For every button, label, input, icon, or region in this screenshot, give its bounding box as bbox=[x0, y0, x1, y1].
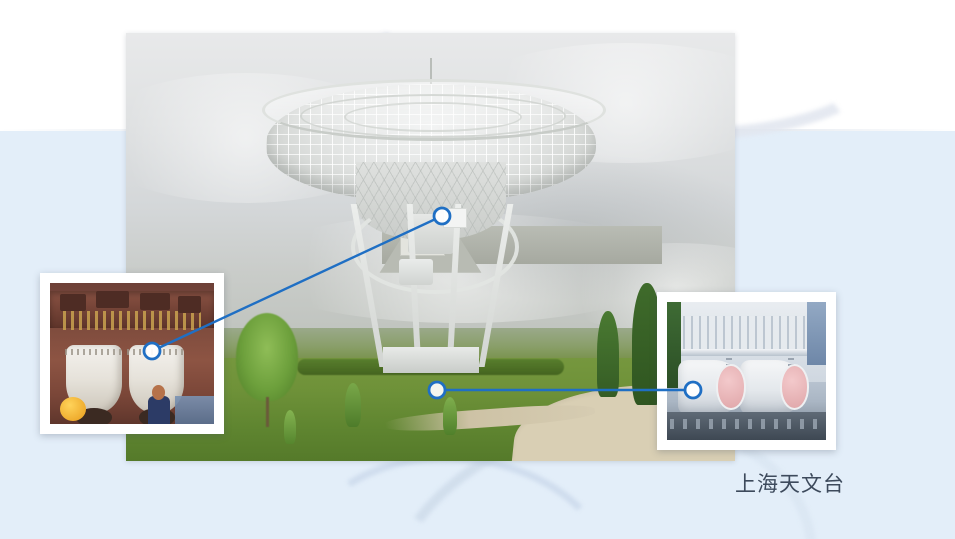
anchor-bolt-row bbox=[670, 419, 823, 429]
dish-inner-ring-secondary bbox=[344, 102, 522, 132]
background-sky-patch bbox=[807, 302, 826, 365]
rusty-bearing-assembly-photo bbox=[40, 273, 224, 434]
background-water-strip bbox=[175, 396, 214, 424]
sapling-tree bbox=[284, 410, 296, 444]
sapling-tree bbox=[443, 397, 457, 435]
cypress-tree bbox=[597, 311, 619, 397]
bolt-block bbox=[140, 293, 170, 310]
feed-horn-housing bbox=[443, 208, 467, 228]
bolt-block bbox=[96, 291, 129, 308]
telescope-dish-assembly bbox=[266, 84, 596, 204]
telescope-support-tower bbox=[341, 204, 521, 367]
brass-pin-row bbox=[63, 311, 201, 329]
overhead-rail bbox=[673, 349, 816, 356]
worker-figure bbox=[148, 396, 169, 424]
willow-tree bbox=[236, 313, 298, 401]
tower-pedestal bbox=[383, 347, 479, 373]
pink-end-cap bbox=[716, 364, 745, 409]
page-title: 上海天文台 bbox=[735, 468, 845, 498]
inset-left-image-plate bbox=[50, 283, 214, 424]
tower-equipment-cabin bbox=[399, 259, 433, 285]
sapling-tree bbox=[345, 383, 361, 427]
bolt-block bbox=[60, 294, 86, 311]
cryogenic-drive-unit-photo bbox=[657, 292, 836, 450]
orange-object bbox=[60, 397, 86, 421]
inset-right-image-plate bbox=[667, 302, 826, 440]
bolt-block bbox=[178, 296, 201, 313]
pink-end-cap bbox=[780, 364, 809, 409]
cooling-fin-array bbox=[677, 316, 811, 352]
slide-canvas: 上海天文台 bbox=[0, 0, 955, 539]
